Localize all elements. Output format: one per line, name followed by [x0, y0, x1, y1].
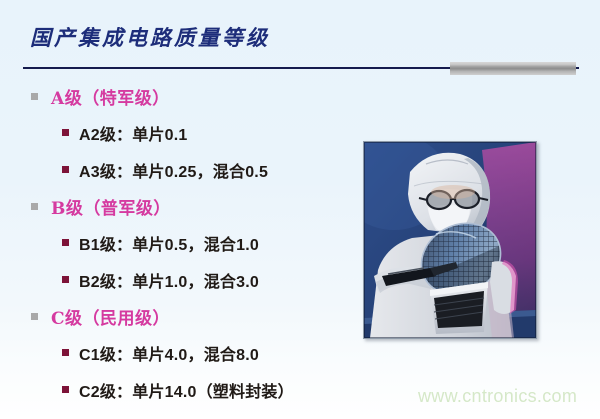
outline-level1-item: A级（特军级） — [0, 78, 360, 114]
page-title: 国产集成电路质量等级 — [30, 27, 270, 48]
square-bullet-icon — [62, 276, 69, 283]
square-bullet-icon — [62, 349, 69, 356]
square-bullet-icon — [62, 129, 69, 136]
watermark: www.cntronics.com — [418, 386, 577, 407]
square-bullet-icon — [31, 203, 38, 210]
outline-level2-label: B2级：单片1.0，混合3.0 — [79, 268, 259, 292]
slide: 国产集成电路质量等级 A级（特军级） A2级：单片0.1 A3级：单片0.25，… — [0, 0, 600, 419]
outline-level2-label: A2级：单片0.1 — [79, 121, 188, 145]
outline-level2-label: A3级：单片0.25，混合0.5 — [79, 158, 268, 182]
wafer-inspection-photo — [363, 141, 537, 339]
outline-level2-item: C2级：单片14.0（塑料封装） — [0, 371, 360, 408]
outline-list: A级（特军级） A2级：单片0.1 A3级：单片0.25，混合0.5 B级（普军… — [0, 78, 360, 408]
outline-level1-item: B级（普军级） — [0, 188, 360, 224]
square-bullet-icon — [31, 93, 38, 100]
accent-bar — [450, 62, 576, 75]
square-bullet-icon — [62, 166, 69, 173]
outline-level1-label: A级（特军级） — [51, 84, 170, 109]
outline-level1-label: B级（普军级） — [51, 194, 171, 219]
outline-level2-item: B1级：单片0.5，混合1.0 — [0, 224, 360, 261]
outline-level2-item: A2级：单片0.1 — [0, 114, 360, 151]
outline-level1-item: C级（民用级） — [0, 298, 360, 334]
square-bullet-icon — [62, 386, 69, 393]
outline-level2-item: B2级：单片1.0，混合3.0 — [0, 261, 360, 298]
outline-level1-label: C级（民用级） — [51, 304, 170, 329]
outline-level2-label: C2级：单片14.0（塑料封装） — [79, 378, 294, 402]
square-bullet-icon — [62, 239, 69, 246]
outline-level2-label: B1级：单片0.5，混合1.0 — [79, 231, 259, 255]
outline-level2-item: C1级：单片4.0，混合8.0 — [0, 334, 360, 371]
wafer-inspection-illustration — [364, 142, 536, 338]
square-bullet-icon — [31, 313, 38, 320]
outline-level2-item: A3级：单片0.25，混合0.5 — [0, 151, 360, 188]
outline-level2-label: C1级：单片4.0，混合8.0 — [79, 341, 259, 365]
